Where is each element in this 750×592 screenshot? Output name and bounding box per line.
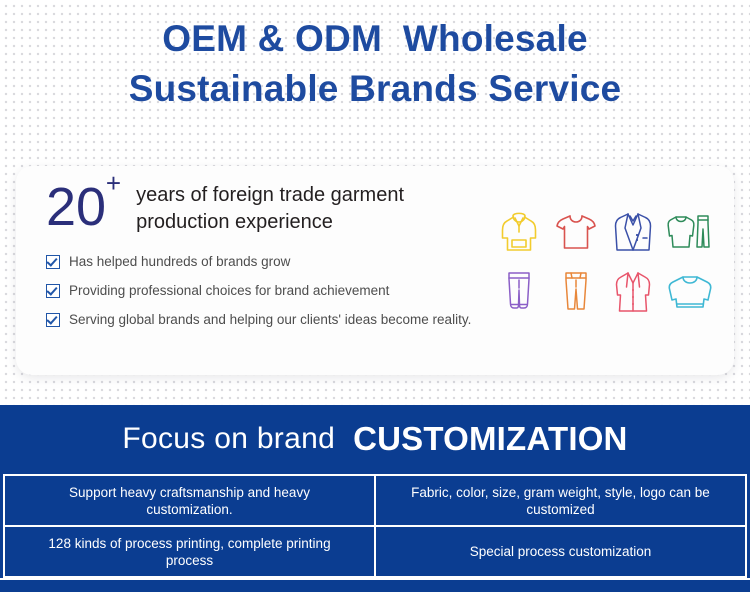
table-cell: Support heavy craftsmanship and heavy cu… xyxy=(5,476,374,525)
checkmark-icon xyxy=(46,255,60,269)
checkmark-icon xyxy=(46,313,60,327)
focus-banner-light-text: Focus on brand xyxy=(122,422,335,456)
experience-card: 20 + years of foreign trade garment prod… xyxy=(16,166,734,375)
list-item: Has helped hundreds of brands grow xyxy=(46,254,496,270)
focus-banner-bold-text: CUSTOMIZATION xyxy=(353,420,628,458)
feature-label: Has helped hundreds of brands grow xyxy=(69,254,290,270)
experience-summary: 20 + years of foreign trade garment prod… xyxy=(46,180,496,236)
table-grid: Support heavy craftsmanship and heavy cu… xyxy=(3,474,747,578)
plus-superscript: + xyxy=(106,170,121,196)
blazer-icon xyxy=(604,202,661,262)
tshirt-icon xyxy=(547,202,604,262)
table-cell-text: Support heavy craftsmanship and heavy cu… xyxy=(25,484,354,518)
years-number: 20 + xyxy=(46,180,110,234)
headline-line-2: Sustainable Brands Service xyxy=(0,64,750,114)
table-cell: Fabric, color, size, gram weight, style,… xyxy=(376,476,745,525)
hoodie-icon xyxy=(490,202,547,262)
list-item: Serving global brands and helping our cl… xyxy=(46,312,496,328)
coat-dress-icon xyxy=(604,262,661,322)
checkmark-icon xyxy=(46,284,60,298)
trousers-icon xyxy=(547,262,604,322)
joggers-icon xyxy=(490,262,547,322)
table-cell: 128 kinds of process printing, complete … xyxy=(5,527,374,576)
headline-block: OEM & ODM Wholesale Sustainable Brands S… xyxy=(0,14,750,114)
feature-label: Serving global brands and helping our cl… xyxy=(69,312,471,328)
promotional-banner: OEM & ODM Wholesale Sustainable Brands S… xyxy=(0,0,750,592)
feature-list: Has helped hundreds of brands grow Provi… xyxy=(46,254,496,341)
table-bottom-divider xyxy=(0,578,750,580)
years-number-value: 20 xyxy=(46,177,106,237)
sweater-and-pants-set-icon xyxy=(661,202,718,262)
table-cell: Special process customization xyxy=(376,527,745,576)
crewneck-sweater-icon xyxy=(661,262,718,322)
table-cell-text: Special process customization xyxy=(470,543,652,560)
list-item: Providing professional choices for brand… xyxy=(46,283,496,299)
experience-description: years of foreign trade garment productio… xyxy=(136,182,496,236)
focus-banner: Focus on brand CUSTOMIZATION xyxy=(0,405,750,472)
feature-label: Providing professional choices for brand… xyxy=(69,283,389,299)
table-cell-text: 128 kinds of process printing, complete … xyxy=(25,535,354,569)
garment-icon-grid xyxy=(490,202,718,322)
table-cell-text: Fabric, color, size, gram weight, style,… xyxy=(396,484,725,518)
customization-table: Support heavy craftsmanship and heavy cu… xyxy=(0,472,750,592)
headline-line-1: OEM & ODM Wholesale xyxy=(0,14,750,64)
